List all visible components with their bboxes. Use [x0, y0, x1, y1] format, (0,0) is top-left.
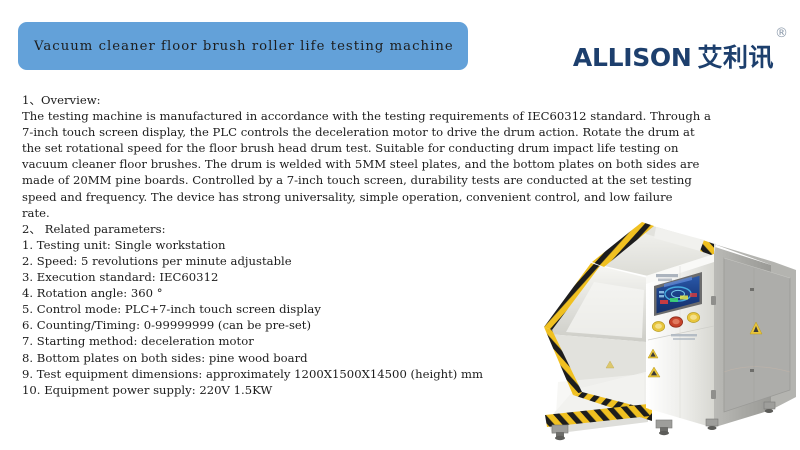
emergency-stop-button[interactable] — [669, 317, 682, 327]
page-header: Vacuum cleaner floor brush roller life t… — [0, 0, 800, 88]
overview-line: rate. — [22, 205, 778, 221]
overview-line: The testing machine is manufactured in a… — [22, 108, 778, 124]
logo-wordmark-cn: 艾利讯 — [697, 45, 774, 70]
logo-wordmark-en: ALLISON — [573, 45, 692, 70]
brand-logo: ALLISON 艾利讯 ® — [573, 30, 788, 70]
machine-rear-cabinet — [712, 244, 796, 428]
overview-line: the set rotational speed for the floor b… — [22, 140, 778, 156]
overview-heading: 1、Overview: — [22, 92, 778, 108]
overview-line: speed and frequency. The device has stro… — [22, 189, 778, 205]
registered-trademark-icon: ® — [775, 26, 788, 41]
title-banner: Vacuum cleaner floor brush roller life t… — [18, 22, 468, 70]
overview-line: made of 20MM pine boards. Controlled by … — [22, 172, 778, 188]
reset-button[interactable] — [687, 313, 699, 323]
page-title: Vacuum cleaner floor brush roller life t… — [34, 39, 454, 54]
start-button[interactable] — [652, 322, 664, 332]
overview-line: 7-inch touch screen display, the PLC con… — [22, 124, 778, 140]
overview-line: vacuum cleaner floor brushes. The drum i… — [22, 156, 778, 172]
machine-photo — [528, 222, 800, 450]
